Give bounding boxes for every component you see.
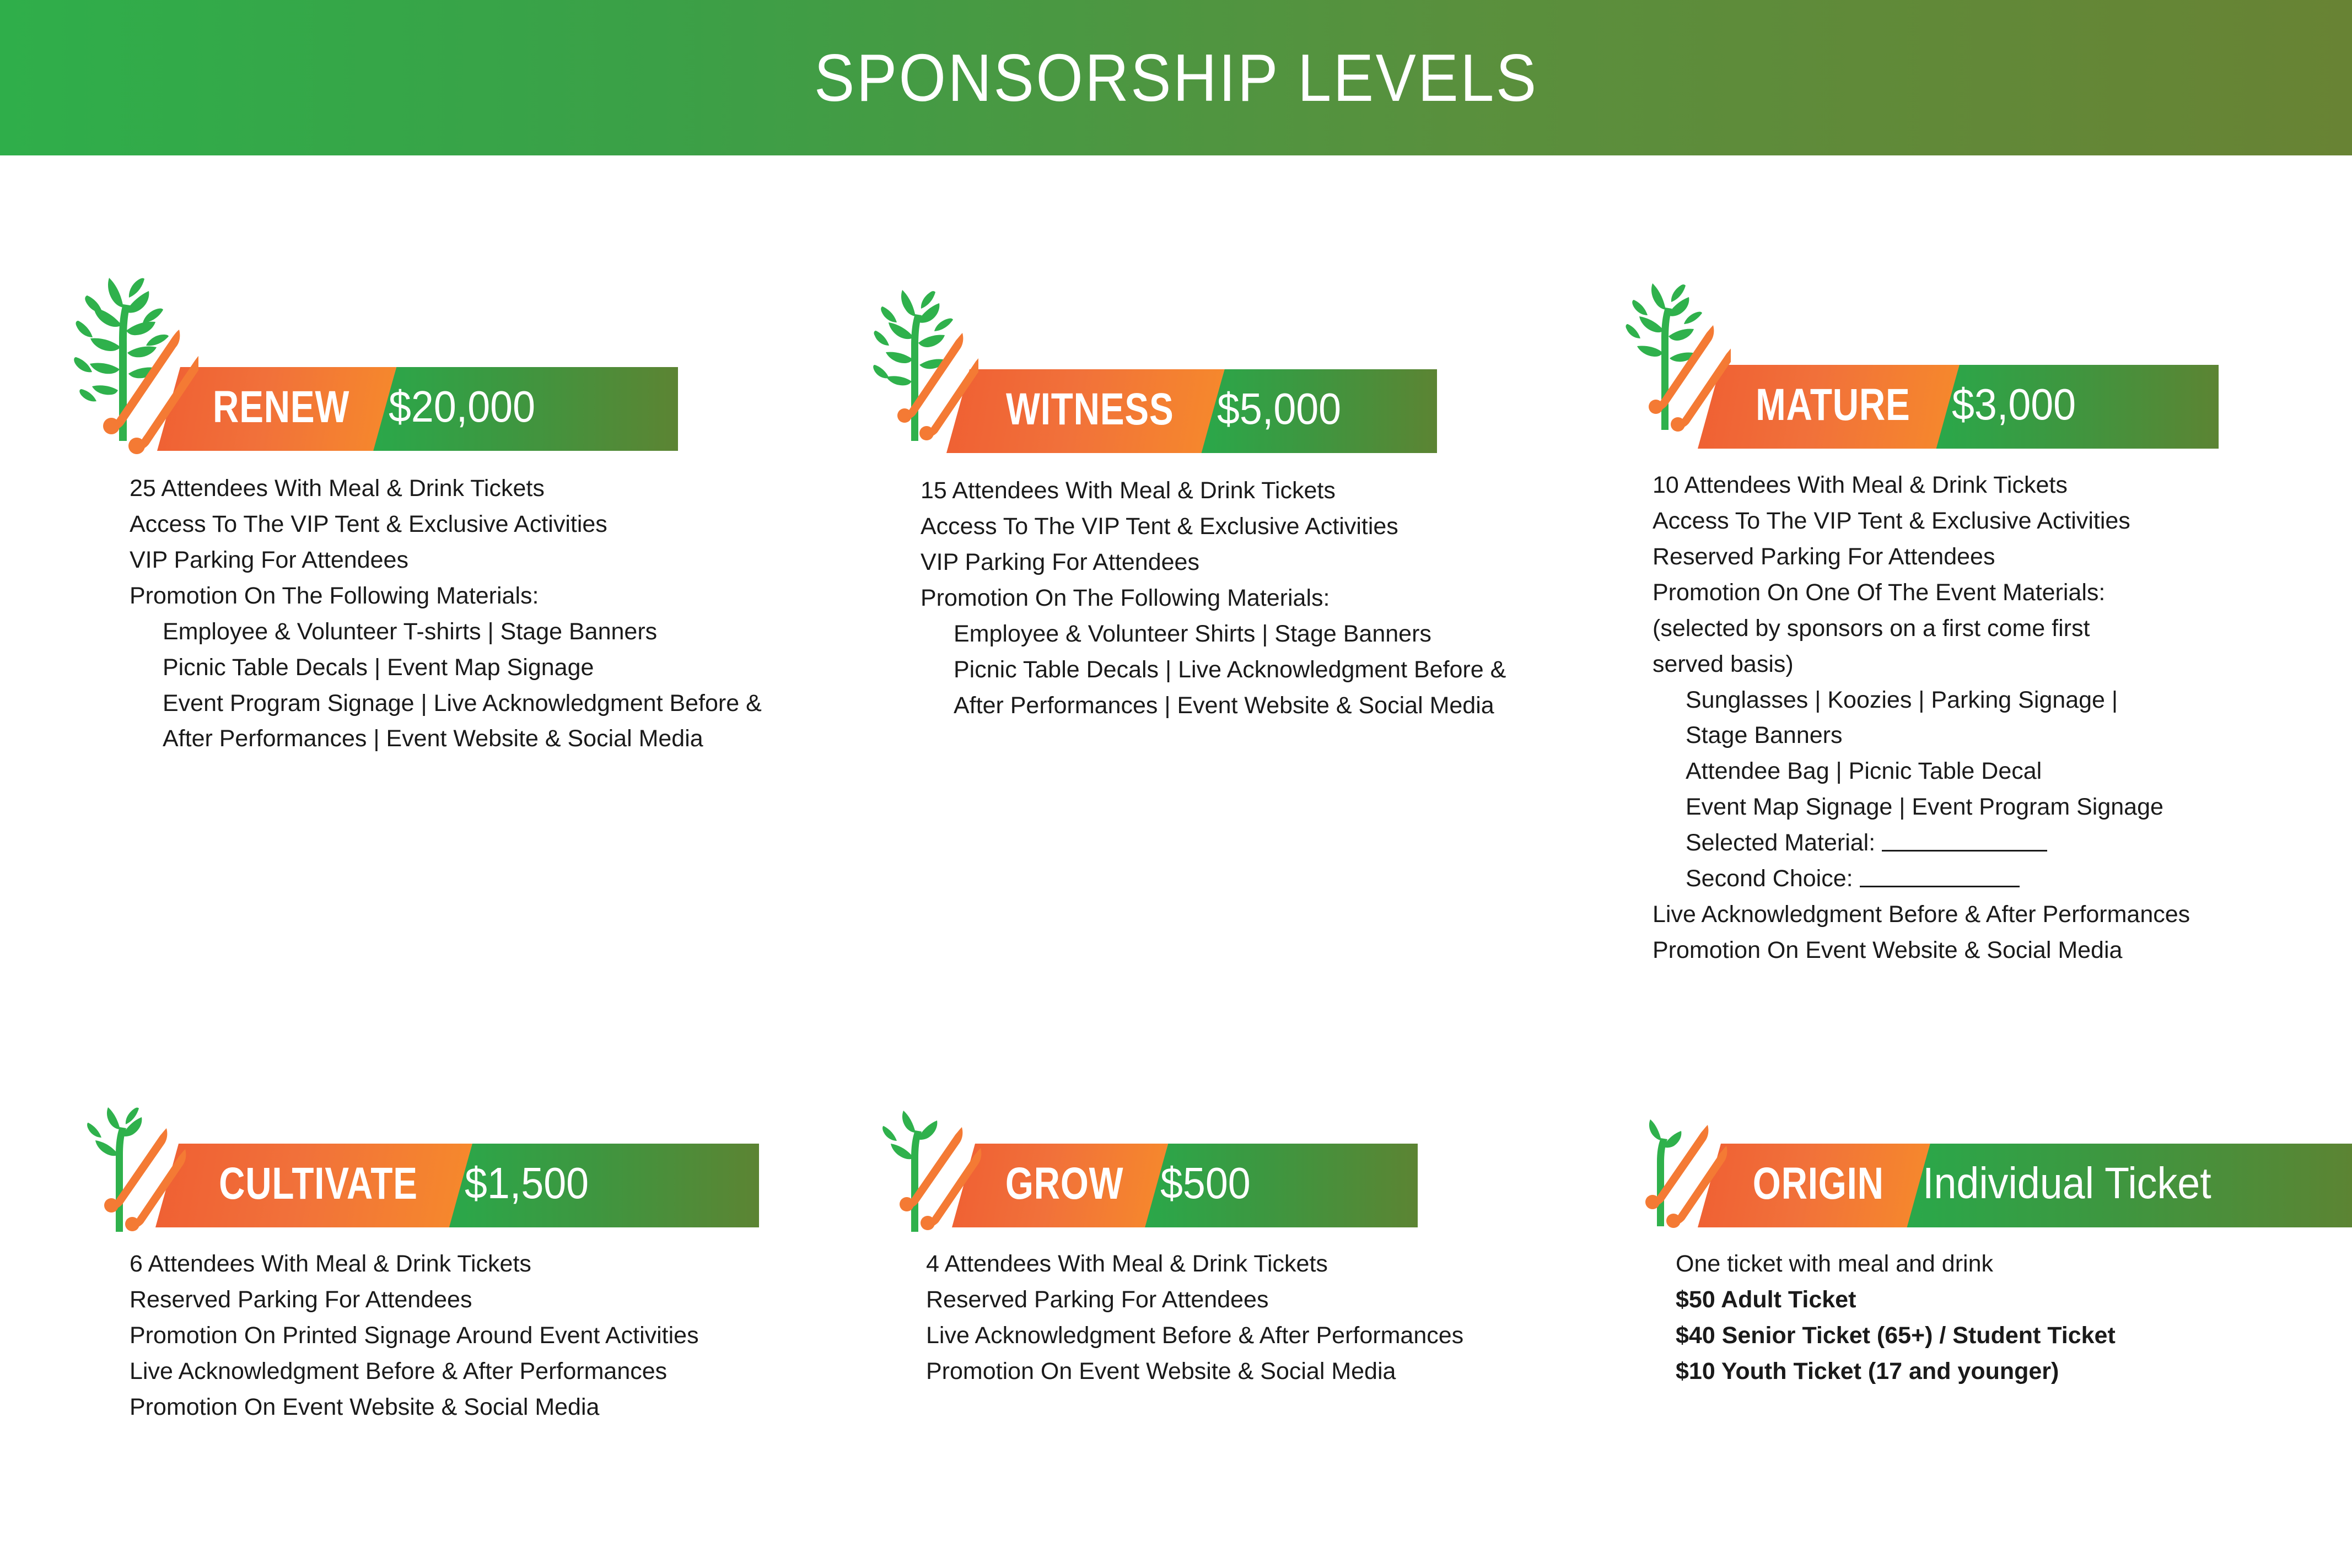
benefit-line: Promotion On Printed Signage Around Even… [130,1318,849,1354]
benefit-line: Live Acknowledgment Before & After Perfo… [1653,897,2352,933]
badge-witness: WITNESS $5,000 [946,369,1437,453]
benefit-line: $50 Adult Ticket [1676,1282,2352,1318]
benefit-line: Event Map Signage | Event Program Signag… [1653,789,2352,825]
benefit-line: Promotion On Event Website & Social Medi… [926,1354,1645,1389]
benefit-line: Sunglasses | Koozies | Parking Signage | [1653,682,2352,718]
badge-price-value: Individual Ticket [1923,1161,2211,1210]
benefit-line: After Performances | Event Website & Soc… [921,688,1640,724]
benefit-line: Access To The VIP Tent & Exclusive Activ… [1653,503,2352,539]
benefit-line: Promotion On Event Website & Social Medi… [1653,933,2352,968]
sponsorship-card-origin: ORIGIN Individual Ticket One ticket with… [1621,1094,2352,1389]
benefit-line: Promotion On The Following Materials: [921,580,1640,616]
benefit-line: Event Program Signage | Live Acknowledgm… [130,686,838,721]
page-header: SPONSORSHIP LEVELS [0,0,2352,155]
badge-level-section: MATURE [1698,365,1960,449]
card-benefits-witness: 15 Attendees With Meal & Drink TicketsAc… [921,473,1640,723]
benefit-line: Promotion On One Of The Event Materials: [1653,575,2352,611]
benefit-line: Employee & Volunteer Shirts | Stage Bann… [921,616,1640,652]
badge-price-section: $20,000 [372,367,678,451]
badge-price-section: $1,500 [448,1144,759,1227]
badge-level-section: CULTIVATE [155,1144,472,1227]
fill-in-blank[interactable] [1860,864,2020,887]
badge-level-section: RENEW [157,367,396,451]
badge-price-value: $1,500 [465,1161,589,1210]
benefit-line: Reserved Parking For Attendees [1653,539,2352,575]
sponsorship-card-witness: WITNESS $5,000 15 Attendees With Meal & … [868,276,1640,723]
card-benefits-origin: One ticket with meal and drink$50 Adult … [1676,1246,2352,1389]
badge-price-section: $500 [1144,1144,1418,1227]
badge-price-value: $20,000 [389,385,535,433]
sponsorship-card-grow: GROW $500 4 Attendees With Meal & Drink … [874,1094,1645,1389]
benefit-line: Live Acknowledgment Before & After Perfo… [130,1354,849,1389]
badge-price-value: $5,000 [1217,387,1341,435]
benefit-line: One ticket with meal and drink [1676,1246,2352,1282]
sponsorship-card-cultivate: CULTIVATE $1,500 6 Attendees With Meal &… [77,1094,849,1425]
benefit-line: Promotion On The Following Materials: [130,578,838,614]
benefit-line: Promotion On Event Website & Social Medi… [130,1389,849,1425]
badge-price-value: $3,000 [1952,382,2076,431]
benefit-line: After Performances | Event Website & Soc… [130,721,838,757]
badge-level-name: GROW [1005,1161,1124,1210]
benefit-line: Attendee Bag | Picnic Table Decal [1653,753,2352,789]
card-benefits-grow: 4 Attendees With Meal & Drink TicketsRes… [926,1246,1645,1389]
badge-cultivate: CULTIVATE $1,500 [155,1144,759,1227]
badge-price-section: $3,000 [1935,365,2219,449]
benefit-line: Access To The VIP Tent & Exclusive Activ… [921,509,1640,545]
badge-level-name: ORIGIN [1753,1161,1884,1210]
benefit-line: Selected Material: [1653,825,2352,861]
badge-level-name: WITNESS [1006,387,1174,435]
benefit-line: Reserved Parking For Attendees [130,1282,849,1318]
benefit-line: Second Choice: [1653,861,2352,897]
badge-level-section: WITNESS [946,369,1225,453]
benefit-line: Stage Banners [1653,718,2352,753]
badge-grow: GROW $500 [952,1144,1418,1227]
badge-level-name: MATURE [1756,382,1910,431]
benefit-line: $10 Youth Ticket (17 and younger) [1676,1354,2352,1389]
badge-level-section: GROW [952,1144,1168,1227]
benefit-line: Reserved Parking For Attendees [926,1282,1645,1318]
badge-renew: RENEW $20,000 [157,367,678,451]
fill-in-blank[interactable] [1882,828,2047,852]
badge-level-section: ORIGIN [1698,1144,1930,1227]
page-title: SPONSORSHIP LEVELS [814,44,1538,111]
benefit-line: VIP Parking For Attendees [921,545,1640,580]
badge-price-section: $5,000 [1201,369,1437,453]
sponsorship-card-renew: RENEW $20,000 25 Attendees With Meal & D… [66,259,838,757]
benefit-line: Picnic Table Decals | Live Acknowledgmen… [921,652,1640,688]
benefit-line: VIP Parking For Attendees [130,542,838,578]
benefit-line: (selected by sponsors on a first come fi… [1653,611,2352,646]
benefit-line: 10 Attendees With Meal & Drink Tickets [1653,467,2352,503]
badge-price-section: Individual Ticket [1906,1144,2352,1227]
card-benefits-cultivate: 6 Attendees With Meal & Drink TicketsRes… [130,1246,849,1425]
benefit-line: 15 Attendees With Meal & Drink Tickets [921,473,1640,509]
benefit-line: 25 Attendees With Meal & Drink Tickets [130,471,838,506]
benefit-line: Picnic Table Decals | Event Map Signage [130,650,838,686]
sponsorship-card-mature: MATURE $3,000 10 Attendees With Meal & D… [1621,270,2352,968]
benefit-line: served basis) [1653,646,2352,682]
benefit-line: Access To The VIP Tent & Exclusive Activ… [130,506,838,542]
benefit-line: 6 Attendees With Meal & Drink Tickets [130,1246,849,1282]
badge-level-name: RENEW [213,385,349,433]
benefit-line: $40 Senior Ticket (65+) / Student Ticket [1676,1318,2352,1354]
badge-price-value: $500 [1160,1161,1251,1210]
benefit-line: 4 Attendees With Meal & Drink Tickets [926,1246,1645,1282]
badge-mature: MATURE $3,000 [1698,365,2219,449]
badge-level-name: CULTIVATE [219,1161,418,1210]
benefit-line: Live Acknowledgment Before & After Perfo… [926,1318,1645,1354]
badge-origin: ORIGIN Individual Ticket [1698,1144,2352,1227]
benefit-line: Employee & Volunteer T-shirts | Stage Ba… [130,614,838,650]
card-benefits-renew: 25 Attendees With Meal & Drink TicketsAc… [130,471,838,757]
card-benefits-mature: 10 Attendees With Meal & Drink TicketsAc… [1653,467,2352,968]
